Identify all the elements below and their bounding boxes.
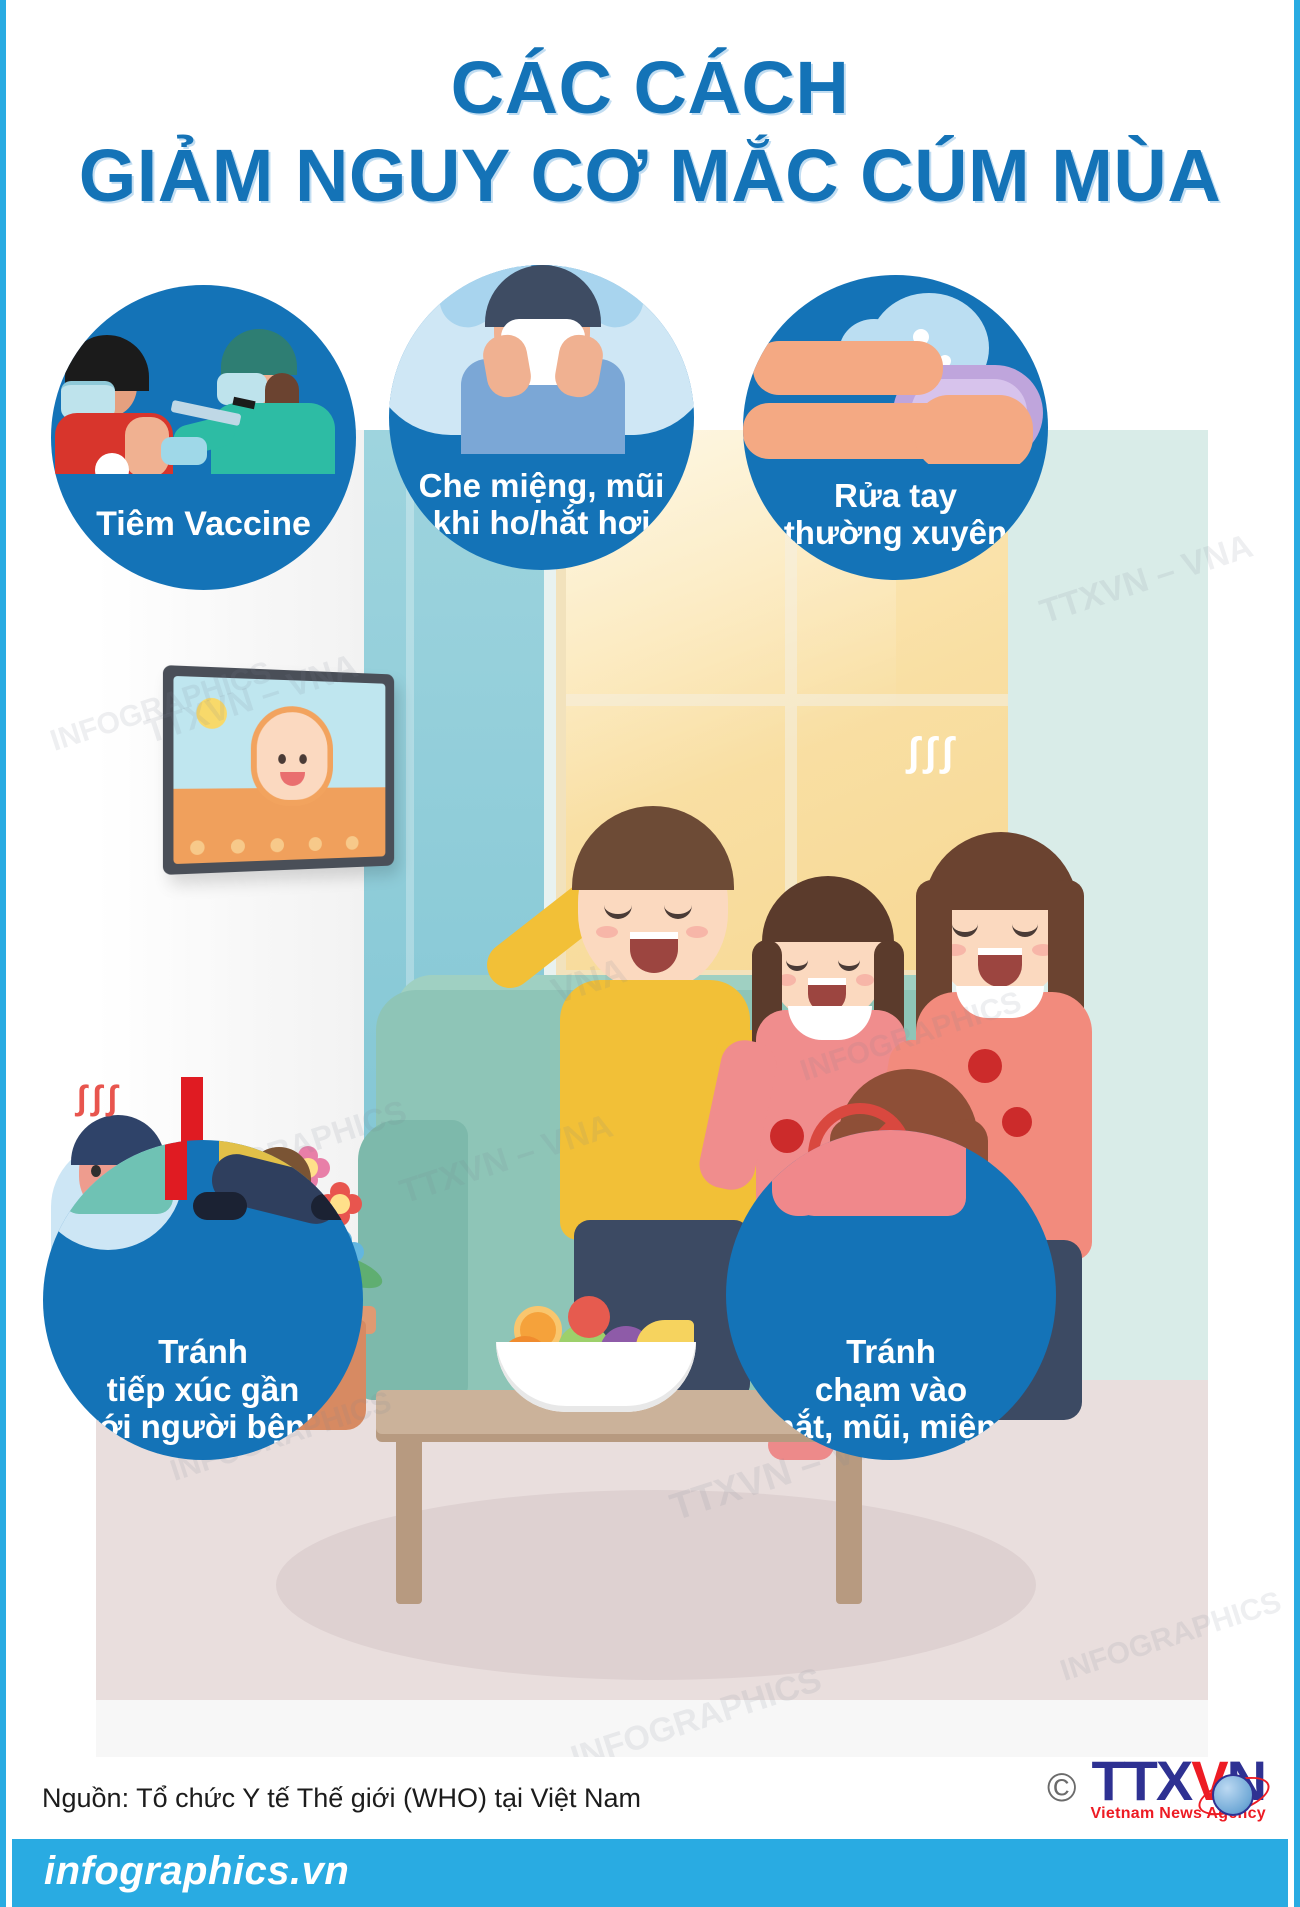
badge-wash-hands[interactable]: Rửa tay thường xuyên	[743, 275, 1048, 580]
daughter-hair	[762, 876, 894, 942]
tv-character-face	[251, 705, 333, 806]
steam-icon: ∫∫∫	[908, 730, 959, 775]
caption-line: Tránh	[43, 1333, 363, 1371]
father-cheek-left	[596, 926, 618, 938]
handwash-icon	[743, 275, 1048, 464]
running-boy-shoe-left	[193, 1192, 247, 1220]
copyright-icon: ©	[1047, 1768, 1076, 1808]
poster-title: CÁC CÁCH GIẢM NGUY CƠ MẮC CÚM MÙA	[6, 48, 1294, 216]
father-mouth	[630, 932, 678, 973]
rug	[276, 1490, 1036, 1680]
caption-line: thường xuyên	[743, 514, 1048, 552]
badge-avoid-contact[interactable]: Tránh tiếp xúc gần với người bệnh	[43, 1140, 363, 1460]
father-hair	[572, 806, 734, 890]
fruit-bowl	[496, 1290, 696, 1400]
father-eye-right	[664, 900, 692, 919]
ttxvn-wordmark: TTXVN Vietnam News Agency	[1090, 1754, 1266, 1823]
tv-eye-right	[299, 754, 307, 764]
badge-avoid-face-touch-caption: Tránh chạm vào mắt, mũi, miệng	[726, 1333, 1056, 1460]
badge-avoid-face-touch[interactable]: Tránh chạm vào mắt, mũi, miệng	[726, 1130, 1056, 1460]
avoid-contact-art-inner	[43, 1140, 363, 1338]
coffee-table-leg-left	[396, 1434, 422, 1604]
separator-bar-inner	[165, 1140, 187, 1200]
mother-eye-left	[952, 918, 978, 937]
poster-footer: Nguồn: Tổ chức Y tế Thế giới (WHO) tại V…	[12, 1757, 1288, 1907]
running-boy-shoe-right	[311, 1194, 363, 1220]
caption-line: Tiêm Vaccine	[51, 505, 356, 544]
daughter-eye-right	[838, 952, 860, 971]
tv-mouth	[280, 772, 305, 786]
infographic-poster: ∫∫∫	[0, 0, 1300, 1907]
badge-cover-cough-caption: Che miệng, mũi khi ho/hắt hơi	[389, 467, 694, 570]
fruit-apple-red	[568, 1296, 610, 1338]
caption-line: mắt, mũi, miệng	[726, 1408, 1056, 1446]
glove-icon	[161, 437, 207, 465]
father-cheek-right	[686, 926, 708, 938]
daughter-cheek-right	[856, 974, 874, 986]
tv-eye-left	[278, 754, 286, 764]
ttxvn-logo: © TTXVN Vietnam News Agency	[1047, 1754, 1266, 1823]
caption-line: chạm vào	[726, 1371, 1056, 1409]
caption-line: Che miệng, mũi	[389, 467, 694, 505]
caption-line: với người bệnh	[43, 1408, 363, 1446]
sick-boy-shirt-inner	[63, 1140, 173, 1214]
badge-cover-cough[interactable]: Che miệng, mũi khi ho/hắt hơi	[389, 265, 694, 570]
mother-eye-right	[1012, 918, 1038, 937]
caption-line: tiếp xúc gần	[43, 1371, 363, 1409]
father-eye-left	[604, 900, 632, 919]
vaccination-icon	[51, 285, 356, 474]
ttxvn-letters: TTXVN	[1091, 1754, 1265, 1807]
title-line-2: GIẢM NGUY CƠ MẮC CÚM MÙA	[6, 136, 1294, 216]
caption-line: Tránh	[726, 1333, 1056, 1371]
brand-name: infographics.vn	[44, 1849, 349, 1894]
brand-tab: infographics.vn	[12, 1839, 482, 1907]
hand-fingers	[915, 395, 1033, 464]
sneeze-tissue-icon	[389, 265, 694, 454]
couch-arm-left	[358, 1120, 468, 1400]
globe-icon	[1212, 1774, 1254, 1816]
ttxvn-ttx: TTX	[1091, 1749, 1191, 1812]
tv-screen	[173, 676, 385, 864]
hand-upper	[753, 341, 943, 395]
caption-line: Rửa tay	[743, 477, 1048, 515]
woman-arm	[772, 1130, 828, 1216]
tv-sun-shape	[196, 697, 227, 729]
badge-vaccine[interactable]: Tiêm Vaccine	[51, 285, 356, 590]
badge-avoid-contact-caption: Tránh tiếp xúc gần với người bệnh	[43, 1333, 363, 1460]
no-face-touch-art-inner	[726, 1130, 1056, 1335]
badge-wash-hands-caption: Rửa tay thường xuyên	[743, 477, 1048, 580]
source-credit: Nguồn: Tổ chức Y tế Thế giới (WHO) tại V…	[42, 1783, 641, 1814]
tv-decor-dots	[173, 833, 385, 858]
daughter-eye-left	[786, 952, 808, 971]
title-line-1: CÁC CÁCH	[6, 48, 1294, 128]
badge-vaccine-caption: Tiêm Vaccine	[51, 505, 356, 590]
nurse-cap-icon	[221, 329, 297, 375]
mother-mouth	[978, 948, 1022, 987]
caption-line: khi ho/hắt hơi	[389, 504, 694, 542]
television-icon	[163, 665, 394, 875]
family-living-room-illustration: ∫∫∫	[96, 430, 1208, 1810]
